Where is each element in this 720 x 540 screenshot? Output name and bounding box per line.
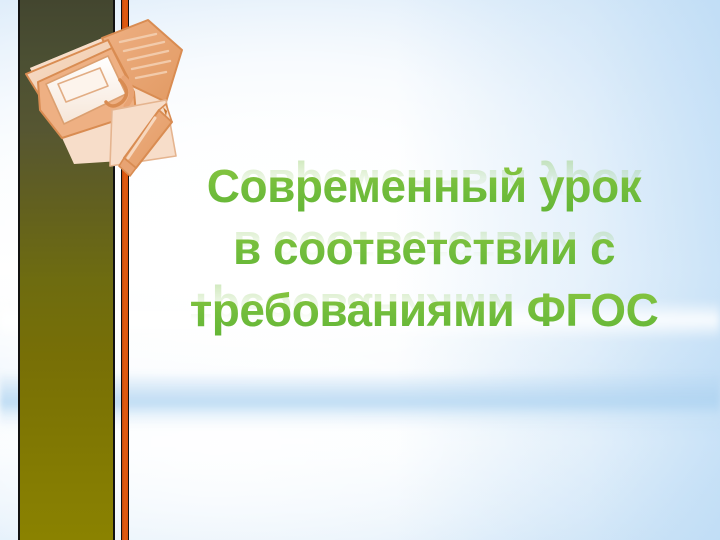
title-line-3-wrapper: требованиями ФГОС требованиями ФГОС: [150, 284, 698, 346]
title-line-2-wrapper: в соответствии с в соответствии с: [150, 222, 698, 284]
open-book-with-pencil-icon: [16, 6, 196, 186]
presentation-slide: Современный урок Современный урок в соот…: [0, 0, 720, 540]
title-line-1-wrapper: Современный урок Современный урок: [150, 160, 698, 222]
title-line-2: в соответствии с: [150, 222, 698, 274]
title-line-1: Современный урок: [150, 160, 698, 212]
slide-title: Современный урок Современный урок в соот…: [150, 160, 698, 346]
title-line-3: требованиями ФГОС: [150, 284, 698, 336]
